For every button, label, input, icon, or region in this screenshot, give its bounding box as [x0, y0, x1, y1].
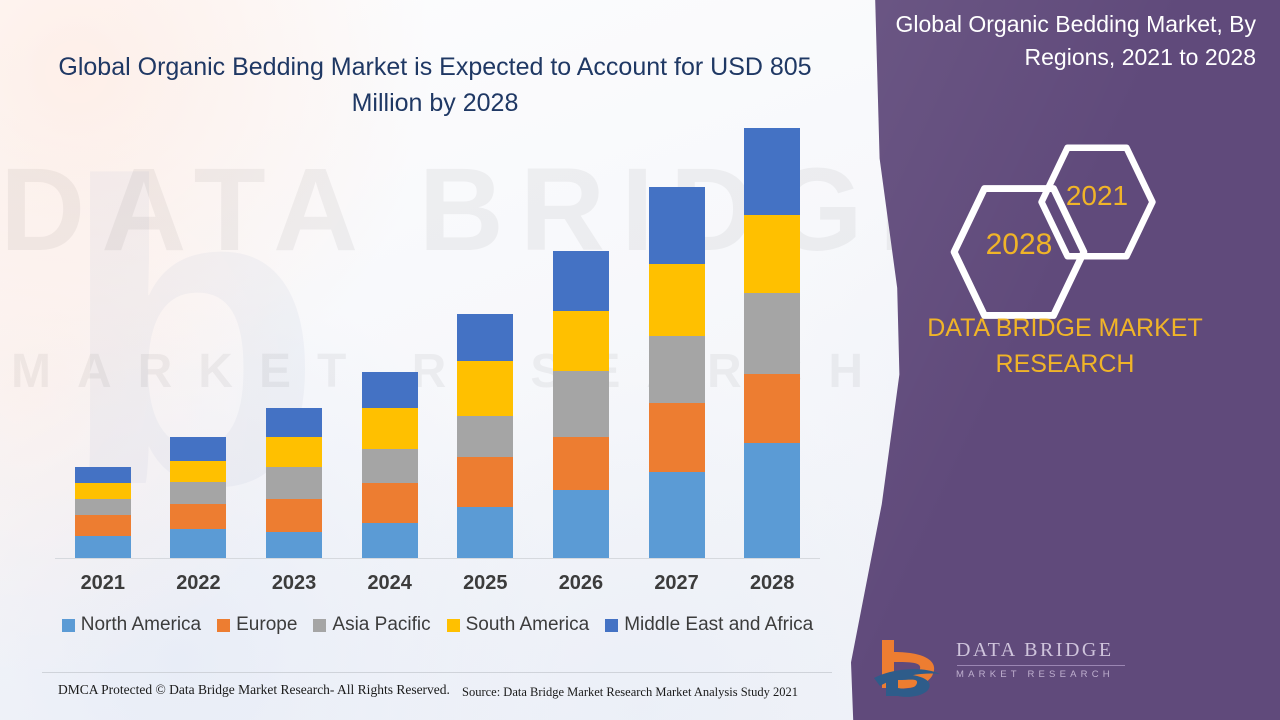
- x-label-2028: 2028: [727, 572, 817, 595]
- bar-segment: [170, 461, 226, 482]
- x-axis-line: [55, 558, 820, 559]
- x-label-2022: 2022: [153, 572, 243, 595]
- plot-area: [55, 120, 820, 559]
- bar-segment: [457, 507, 513, 559]
- legend-swatch-icon: [217, 619, 230, 632]
- x-axis-labels: 20212022202320242025202620272028: [55, 572, 820, 602]
- legend-item[interactable]: Middle East and Africa: [605, 614, 813, 636]
- legend-label: Asia Pacific: [332, 614, 430, 636]
- footer-source: Source: Data Bridge Market Research Mark…: [462, 685, 798, 700]
- bar-2023: [266, 408, 322, 559]
- bar-segment: [553, 311, 609, 371]
- bar-segment: [362, 408, 418, 450]
- bar-2025: [457, 314, 513, 559]
- x-label-2021: 2021: [58, 572, 148, 595]
- bar-segment: [553, 371, 609, 437]
- x-label-2025: 2025: [440, 572, 530, 595]
- bar-segment: [362, 449, 418, 483]
- company-logo: DATA BRIDGE MARKET RESEARCH: [870, 634, 1130, 700]
- bar-segment: [457, 361, 513, 415]
- logo-name: DATA BRIDGE: [956, 640, 1125, 660]
- brand-panel: Global Organic Bedding Market, By Region…: [840, 0, 1280, 720]
- bar-segment: [362, 483, 418, 523]
- infographic-root: b DATA BRIDGE MARKET RESEARCH Global Org…: [0, 0, 1280, 720]
- legend-label: North America: [81, 614, 201, 636]
- legend-swatch-icon: [605, 619, 618, 632]
- bar-2024: [362, 372, 418, 559]
- bar-segment: [170, 504, 226, 529]
- hexagon-2021-label: 2021: [1066, 180, 1128, 212]
- x-label-2024: 2024: [345, 572, 435, 595]
- bar-2026: [553, 251, 609, 559]
- legend-label: Europe: [236, 614, 297, 636]
- bar-segment: [744, 293, 800, 374]
- bar-segment: [744, 215, 800, 294]
- brand-name: DATA BRIDGE MARKET RESEARCH: [890, 310, 1240, 383]
- hexagon-group: 2028 2021: [850, 143, 1270, 293]
- panel-title: Global Organic Bedding Market, By Region…: [866, 8, 1256, 75]
- bar-segment: [744, 128, 800, 215]
- logo-mark-icon: [870, 634, 950, 698]
- bar-segment: [649, 264, 705, 336]
- hexagon-2021: 2021: [1038, 143, 1156, 249]
- bar-2027: [649, 187, 705, 559]
- bar-segment: [266, 408, 322, 437]
- footer-copyright: DMCA Protected © Data Bridge Market Rese…: [58, 682, 450, 698]
- legend-item[interactable]: South America: [447, 614, 590, 636]
- bar-segment: [553, 251, 609, 311]
- legend-swatch-icon: [62, 619, 75, 632]
- bar-2021: [75, 467, 131, 559]
- bar-segment: [649, 187, 705, 264]
- bar-segment: [75, 467, 131, 483]
- logo-subtitle: MARKET RESEARCH: [956, 670, 1125, 680]
- bar-segment: [362, 372, 418, 408]
- bar-segment: [266, 499, 322, 533]
- bar-segment: [649, 403, 705, 472]
- bar-segment: [75, 483, 131, 499]
- legend-item[interactable]: North America: [62, 614, 201, 636]
- footer-divider: [42, 672, 832, 673]
- bar-segment: [744, 443, 800, 559]
- bar-segment: [649, 336, 705, 403]
- bar-segment: [75, 536, 131, 559]
- bar-segment: [266, 437, 322, 467]
- logo-wordmark: DATA BRIDGE MARKET RESEARCH: [956, 640, 1125, 680]
- bar-segment: [553, 490, 609, 559]
- hexagon-2028-label: 2028: [986, 228, 1053, 262]
- chart-legend: North AmericaEuropeAsia PacificSouth Ame…: [55, 614, 820, 636]
- legend-item[interactable]: Europe: [217, 614, 297, 636]
- bar-segment: [744, 374, 800, 443]
- bar-segment: [553, 437, 609, 490]
- legend-swatch-icon: [447, 619, 460, 632]
- logo-divider: [957, 665, 1125, 666]
- chart: 20212022202320242025202620272028 North A…: [0, 0, 900, 620]
- bar-segment: [170, 437, 226, 461]
- x-label-2027: 2027: [632, 572, 722, 595]
- legend-swatch-icon: [313, 619, 326, 632]
- x-label-2026: 2026: [536, 572, 626, 595]
- bar-segment: [457, 416, 513, 458]
- legend-label: South America: [466, 614, 590, 636]
- bar-segment: [75, 499, 131, 515]
- bar-segment: [362, 523, 418, 559]
- bar-2022: [170, 437, 226, 559]
- bar-segment: [457, 457, 513, 507]
- bar-segment: [649, 472, 705, 559]
- bar-segment: [170, 529, 226, 559]
- bar-segment: [75, 515, 131, 536]
- bar-segment: [457, 314, 513, 361]
- bar-2028: [744, 128, 800, 559]
- bar-segment: [266, 467, 322, 499]
- bar-segment: [170, 482, 226, 504]
- x-label-2023: 2023: [249, 572, 339, 595]
- legend-label: Middle East and Africa: [624, 614, 813, 636]
- bar-segment: [266, 532, 322, 559]
- legend-item[interactable]: Asia Pacific: [313, 614, 430, 636]
